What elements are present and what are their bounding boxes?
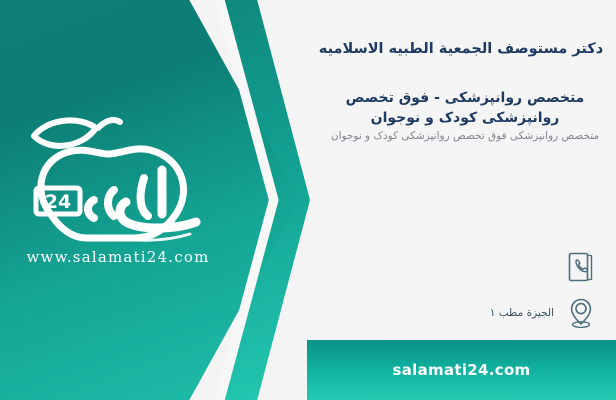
salamati24-logo: 24 سلامتی 24 برای همی یک لبخند xyxy=(14,104,226,264)
contact-row-location[interactable]: الجيزة مطب ١ xyxy=(328,294,598,332)
contact-list: الجيزة مطب ١ xyxy=(328,248,598,340)
doctor-specialty-subtitle: متخصص روانپزشکی فوق تخصص روانپزشکی کودک … xyxy=(322,128,608,146)
location-pin-icon[interactable] xyxy=(564,295,598,331)
business-card: 24 سلامتی 24 برای همی یک لبخند www.salam… xyxy=(0,0,616,400)
phone-book-icon[interactable] xyxy=(564,249,598,285)
svg-text:24: 24 xyxy=(45,191,71,213)
footer-website-bar[interactable]: salamati24.com xyxy=(307,340,616,400)
brand-panel: 24 سلامتی 24 برای همی یک لبخند www.salam… xyxy=(0,0,310,400)
brand-website-url: www.salamati24.com xyxy=(18,248,218,266)
contact-row-phone[interactable] xyxy=(328,248,598,286)
footer-website-text: salamati24.com xyxy=(393,361,531,379)
doctor-specialty: متخصص روانپزشکی - فوق تخصص روانپزشکی کود… xyxy=(322,88,608,129)
doctor-title: دكتر مستوصف الجمعية الطبيه الاسلاميه xyxy=(318,40,604,60)
contact-location-text: الجيزة مطب ١ xyxy=(490,307,554,319)
